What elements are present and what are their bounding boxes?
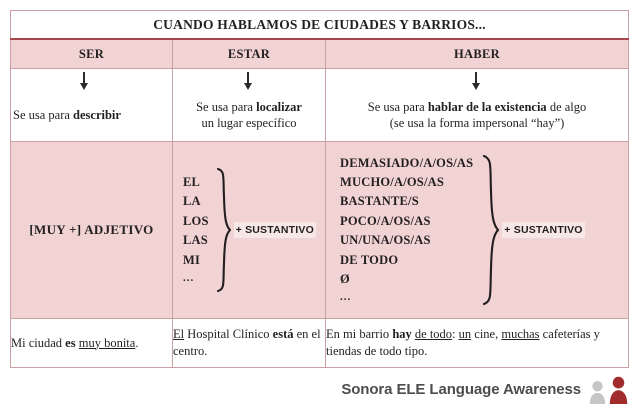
list-item: EL — [183, 173, 209, 192]
example-ser-verb: es — [65, 336, 75, 350]
brand-logo — [589, 376, 628, 404]
example-haber-p4: cine, — [471, 327, 501, 341]
list-item: ... — [183, 270, 209, 287]
column-header-ser: SER — [11, 39, 173, 69]
list-item: UN/UNA/OS/AS — [340, 231, 473, 250]
brand-name: Sonora ELE Language Awareness — [341, 381, 581, 398]
worksheet-page: CUANDO HABLAMOS DE CIUDADES Y BARRIOS...… — [0, 0, 640, 405]
usage-estar-keyword: localizar — [256, 100, 302, 114]
usage-haber-line2: (se usa la forma impersonal “hay”) — [390, 116, 565, 130]
footer-brand: Sonora ELE Language Awareness — [0, 374, 640, 405]
list-item: MI — [183, 251, 209, 270]
usage-cell-haber: Se usa para hablar de la existencia de a… — [326, 69, 629, 142]
down-arrow-icon — [79, 72, 88, 90]
table-header-row: SER ESTAR HABER — [11, 39, 629, 69]
structure-suffix-estar: + SUSTANTIVO — [234, 222, 316, 238]
word-list-estar: EL LA LOS LAS MI ... — [183, 173, 209, 287]
column-header-estar: ESTAR — [173, 39, 326, 69]
usage-estar-prefix: Se usa para — [196, 100, 256, 114]
list-item: Ø — [340, 270, 473, 289]
example-cell-haber: En mi barrio hay de todo: un cine, mucha… — [326, 319, 629, 368]
down-arrow-icon — [471, 72, 480, 90]
down-arrow-icon — [243, 72, 252, 90]
page-title: CUANDO HABLAMOS DE CIUDADES Y BARRIOS... — [11, 11, 629, 40]
table-structure-row: [MUY +] ADJETIVO EL LA LOS LAS MI ... — [11, 142, 629, 319]
example-ser-p1: Mi ciudad — [11, 336, 65, 350]
example-ser-underline: muy bonita — [79, 336, 136, 350]
curly-brace-icon — [481, 154, 499, 306]
usage-text-ser: Se usa para describir — [11, 87, 172, 124]
example-estar-p1: Hospital Clínico — [184, 327, 273, 341]
example-haber-u2: un — [459, 327, 472, 341]
person-icon-gray — [589, 380, 606, 404]
list-item: MUCHO/A/OS/AS — [340, 173, 473, 192]
word-list-haber: DEMASIADO/A/OS/AS MUCHO/A/OS/AS BASTANTE… — [340, 154, 473, 307]
usage-cell-ser: Se usa para describir — [11, 69, 173, 142]
column-header-haber: HABER — [326, 39, 629, 69]
example-haber-p3: : — [452, 327, 459, 341]
structure-formula-ser: [MUY +] ADJETIVO — [11, 142, 173, 319]
usage-haber-prefix: Se usa para — [368, 100, 428, 114]
example-haber-p1: En mi barrio — [326, 327, 392, 341]
example-ser-p3: . — [135, 336, 138, 350]
example-cell-ser: Mi ciudad es muy bonita. — [11, 319, 173, 368]
list-item: LOS — [183, 212, 209, 231]
example-haber-u1: de todo — [415, 327, 452, 341]
structure-cell-haber: DEMASIADO/A/OS/AS MUCHO/A/OS/AS BASTANTE… — [326, 142, 629, 319]
brace-group-haber: DEMASIADO/A/OS/AS MUCHO/A/OS/AS BASTANTE… — [326, 142, 628, 318]
curly-brace-icon — [215, 167, 231, 293]
usage-haber-suffix: de algo — [547, 100, 587, 114]
person-icon-red — [609, 376, 628, 404]
structure-suffix-haber: + SUSTANTIVO — [502, 222, 584, 238]
table-example-row: Mi ciudad es muy bonita. El Hospital Clí… — [11, 319, 629, 368]
brace-group-estar: EL LA LOS LAS MI ... + SUSTANTIVO — [173, 142, 325, 318]
list-item: DE TODO — [340, 251, 473, 270]
example-haber-u3: muchas — [501, 327, 539, 341]
example-haber-verb: hay — [392, 327, 411, 341]
usage-ser-prefix: Se usa para — [13, 108, 73, 122]
list-item: DEMASIADO/A/OS/AS — [340, 154, 473, 173]
usage-haber-keyword: hablar de la existencia — [428, 100, 547, 114]
list-item: LAS — [183, 231, 209, 250]
list-item: BASTANTE/S — [340, 192, 473, 211]
list-item: LA — [183, 192, 209, 211]
usage-cell-estar: Se usa para localizarun lugar específico — [173, 69, 326, 142]
usage-ser-keyword: describir — [73, 108, 121, 122]
example-estar-underline: El — [173, 327, 184, 341]
list-item: ... — [340, 289, 473, 306]
structure-cell-estar: EL LA LOS LAS MI ... + SUSTANTIVO — [173, 142, 326, 319]
list-item: POCO/A/OS/AS — [340, 212, 473, 231]
table-title-row: CUANDO HABLAMOS DE CIUDADES Y BARRIOS... — [11, 11, 629, 40]
grammar-table: CUANDO HABLAMOS DE CIUDADES Y BARRIOS...… — [10, 10, 629, 368]
usage-estar-line2: un lugar específico — [201, 116, 296, 130]
example-cell-estar: El Hospital Clínico está en el centro. — [173, 319, 326, 368]
table-usage-row: Se usa para describir Se usa para locali… — [11, 69, 629, 142]
example-estar-verb: está — [273, 327, 294, 341]
